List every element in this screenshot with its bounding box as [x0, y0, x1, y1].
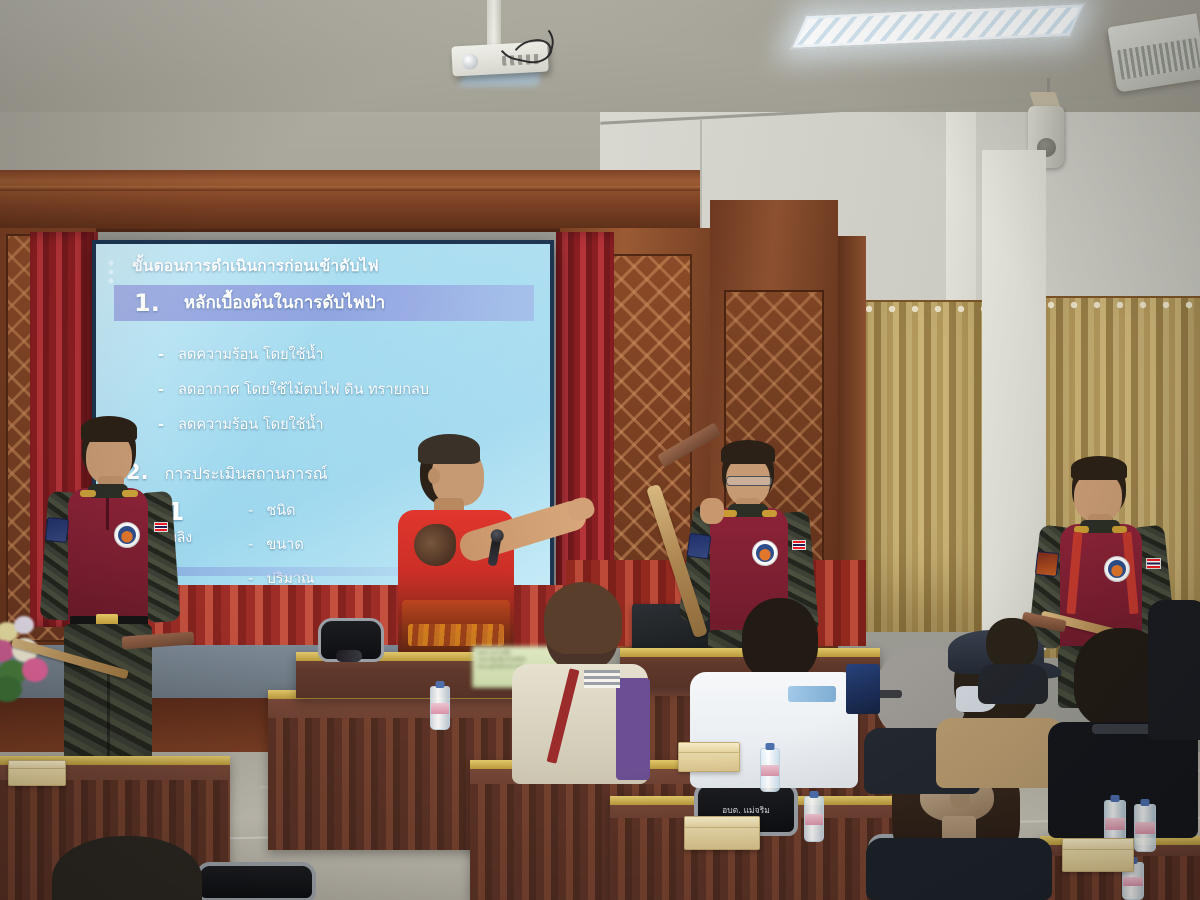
- inner-purple-shirt: [616, 678, 650, 780]
- bottle-label: [431, 703, 449, 714]
- section-1-heading: หลักเบื้องต้นในการดับไฟป่า: [184, 289, 385, 316]
- ac-grille: [1117, 38, 1200, 80]
- arm-tattoo: [414, 524, 456, 566]
- crest-emblem: [118, 526, 136, 544]
- bottle-label: [761, 765, 779, 776]
- dark-clothing: [1148, 600, 1200, 740]
- bullet-dash-icon: -: [248, 503, 253, 519]
- air-conditioner-icon: [1107, 13, 1200, 92]
- hair: [544, 582, 622, 654]
- shirt-logo: [788, 686, 836, 702]
- bullet-text: ลดความร้อน โดยใช้น้ำ: [178, 413, 324, 436]
- epaulette-left: [722, 510, 737, 517]
- bottle-cap: [766, 743, 775, 750]
- water-bottle[interactable]: [430, 686, 450, 730]
- dark-jacket: [978, 664, 1048, 704]
- curtain-grommets: [862, 305, 982, 314]
- snack-box[interactable]: [8, 760, 66, 786]
- slide-title: ขั้นตอนการดำเนินการก่อนเข้าดับไฟ: [132, 258, 534, 276]
- bottle-cap: [436, 681, 445, 688]
- bullet-item: - ลดความร้อน โดยใช้น้ำ: [158, 343, 534, 366]
- curtain-grommets-right: [1044, 301, 1200, 310]
- section-1-bullet-list: - ลดความร้อน โดยใช้น้ำ - ลดอากาศ โดยใช้ไ…: [158, 343, 534, 436]
- projector-lens: [462, 53, 479, 70]
- bottle-cap: [810, 791, 819, 798]
- wall-corner-seam-2: [700, 120, 702, 240]
- raised-hand: [700, 498, 724, 524]
- audience-member-vest: [500, 586, 650, 796]
- lamp-diffuser: [797, 7, 1080, 45]
- bullet-text: ขนาด: [266, 533, 303, 556]
- bullet-text: ลดความร้อน โดยใช้น้ำ: [178, 343, 324, 366]
- snack-box[interactable]: [684, 816, 760, 850]
- crest-emblem: [756, 544, 774, 562]
- dark-top: [866, 838, 1052, 900]
- head: [986, 618, 1038, 670]
- bullet-dash-icon: -: [248, 537, 253, 553]
- hair: [721, 440, 775, 464]
- wood-header-beam: [0, 170, 700, 232]
- blue-folder: [846, 664, 880, 714]
- tan-jacket: [936, 718, 1064, 788]
- bullet-dash-icon: -: [158, 347, 164, 363]
- audience-member-mid-right: [978, 618, 1048, 698]
- epaulette-right: [122, 490, 138, 497]
- thai-flag-patch: [154, 522, 168, 532]
- epaulette-left: [80, 490, 96, 497]
- head: [742, 598, 818, 680]
- bottle-label: [805, 814, 823, 825]
- snack-box[interactable]: [1062, 838, 1134, 872]
- snack-box-lid: [9, 761, 65, 769]
- water-bottle[interactable]: [804, 796, 824, 842]
- snack-box-lid: [685, 817, 759, 828]
- bullet-item: - ชนิด: [248, 499, 337, 522]
- bottle-cap: [1141, 799, 1150, 806]
- water-bottle[interactable]: [1134, 804, 1156, 852]
- unit-crest-patch: [752, 540, 778, 566]
- hair: [418, 434, 480, 464]
- slide-section-1-band: 1. หลักเบื้องต้นในการดับไฟป่า: [114, 285, 534, 321]
- thai-flag-patch: [792, 540, 806, 550]
- snack-box-lid: [679, 743, 739, 753]
- shirt-graphic-flames: [408, 624, 504, 646]
- bullet-text: ชนิด: [266, 499, 295, 522]
- snack-box[interactable]: [678, 742, 740, 772]
- eyeglasses-icon: [726, 476, 772, 486]
- bottle-label: [1123, 877, 1143, 886]
- shoulder-patch: [1035, 551, 1059, 577]
- bullet-item: - ลดอากาศ โดยใช้ไม้ตบไฟ ดิน ทรายกลบ: [158, 378, 534, 401]
- head: [52, 836, 202, 900]
- water-bottle[interactable]: [760, 748, 780, 792]
- microphone-on-table[interactable]: [336, 650, 362, 662]
- collar-trim: [1092, 724, 1154, 734]
- audience-member-far-right: [1148, 600, 1200, 740]
- section-2-heading: การประเมินสถานการณ์: [165, 462, 328, 487]
- flower: [0, 676, 22, 702]
- hair: [1071, 456, 1127, 480]
- zipper: [106, 498, 109, 530]
- ear: [428, 468, 440, 484]
- bottle-label: [1105, 818, 1125, 830]
- unit-crest-patch: [114, 522, 140, 548]
- thai-flag-patch: [1146, 558, 1161, 569]
- bottle-label: [1135, 822, 1155, 834]
- unit-crest-patch: [1104, 556, 1130, 582]
- bullet-dash-icon: -: [158, 382, 164, 398]
- training-hall-photo: ขั้นตอนการดำเนินการก่อนเข้าดับไฟ 1. หลัก…: [0, 0, 1200, 900]
- shoulder-patch: [45, 517, 69, 543]
- gold-curtain-left: [862, 302, 982, 632]
- section-1-number: 1.: [134, 289, 160, 317]
- audience-member-foreground-left: [26, 836, 236, 900]
- shoulder-patch: [686, 533, 711, 560]
- crest-emblem: [1108, 560, 1126, 578]
- vest-reflective-stripe: [584, 670, 620, 688]
- bullet-text: ลดอากาศ โดยใช้ไม้ตบไฟ ดิน ทรายกลบ: [178, 378, 429, 401]
- bullet-dots-icon: [108, 260, 114, 286]
- snack-box-lid: [1063, 839, 1133, 850]
- epaulette-right: [762, 510, 777, 517]
- bottle-cap: [1111, 795, 1120, 802]
- hair: [81, 416, 137, 442]
- wood-trim: [0, 186, 700, 191]
- bullet-item: - ขนาด: [248, 533, 337, 556]
